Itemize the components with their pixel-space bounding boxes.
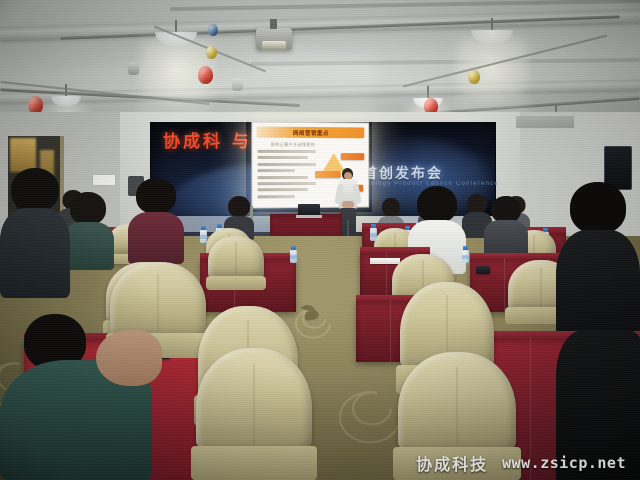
balloon-icon [206, 46, 217, 59]
water-bottle-icon [462, 246, 469, 263]
balloon-icon [468, 70, 480, 84]
doorway-light [10, 138, 36, 172]
slide-body-text [258, 150, 318, 202]
attendee [556, 182, 640, 352]
backdrop-subtitle: 下首创发布会 [347, 163, 507, 183]
slide-lead-text: 如何让客户主动找到你 [271, 142, 315, 148]
ceiling-conduit [170, 0, 640, 11]
laptop-icon [296, 204, 322, 217]
water-bottle-icon [290, 246, 297, 263]
slide-chip [341, 153, 365, 160]
projector-icon [256, 28, 292, 50]
wall-vent [516, 116, 574, 128]
attendee [484, 196, 528, 258]
balloon-icon [208, 24, 218, 36]
attendee [0, 168, 70, 298]
chair [208, 236, 264, 290]
balloon-icon [198, 66, 213, 84]
slide-header-text: 网络营销重点 [293, 128, 329, 136]
slide-header-bar: 网络营销重点 [256, 127, 364, 139]
wall-sign [92, 174, 116, 186]
phone-icon [476, 266, 490, 274]
conference-room-photo: 协成科 与实战 下首创发布会 Technology Product Launch… [0, 0, 640, 480]
attendee [128, 178, 184, 264]
chair [196, 348, 312, 480]
spotlight-icon [232, 78, 243, 91]
spotlight-icon [128, 62, 139, 75]
chair [398, 352, 516, 480]
foreground-attendee-arm [96, 330, 162, 386]
attendee [556, 330, 640, 480]
